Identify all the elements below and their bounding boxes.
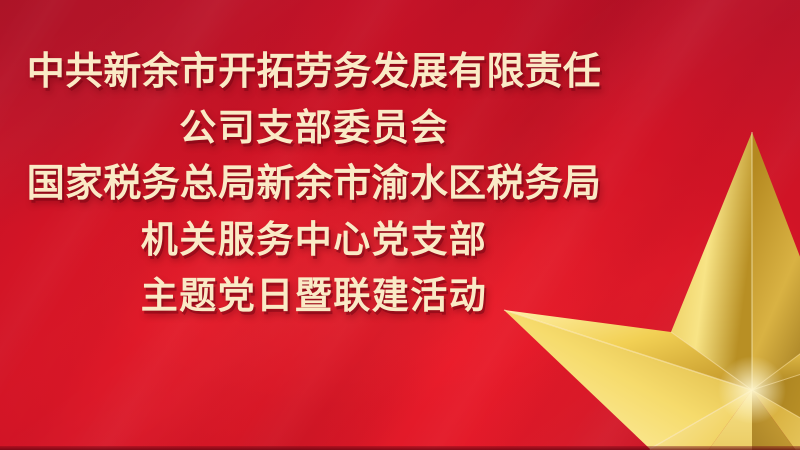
bottom-edge-band: [0, 446, 800, 450]
headline-block: 中共新余市开拓劳务发展有限责任 公司支部委员会 国家税务总局新余市渝水区税务局 …: [0, 44, 628, 324]
headline-line-1: 中共新余市开拓劳务发展有限责任: [0, 44, 628, 100]
party-event-banner: 中共新余市开拓劳务发展有限责任 公司支部委员会 国家税务总局新余市渝水区税务局 …: [0, 0, 800, 450]
headline-line-5: 主题党日暨联建活动: [0, 268, 628, 324]
headline-line-2: 公司支部委员会: [0, 100, 628, 156]
headline-line-3: 国家税务总局新余市渝水区税务局: [0, 156, 628, 212]
headline-line-4: 机关服务中心党支部: [0, 212, 628, 268]
